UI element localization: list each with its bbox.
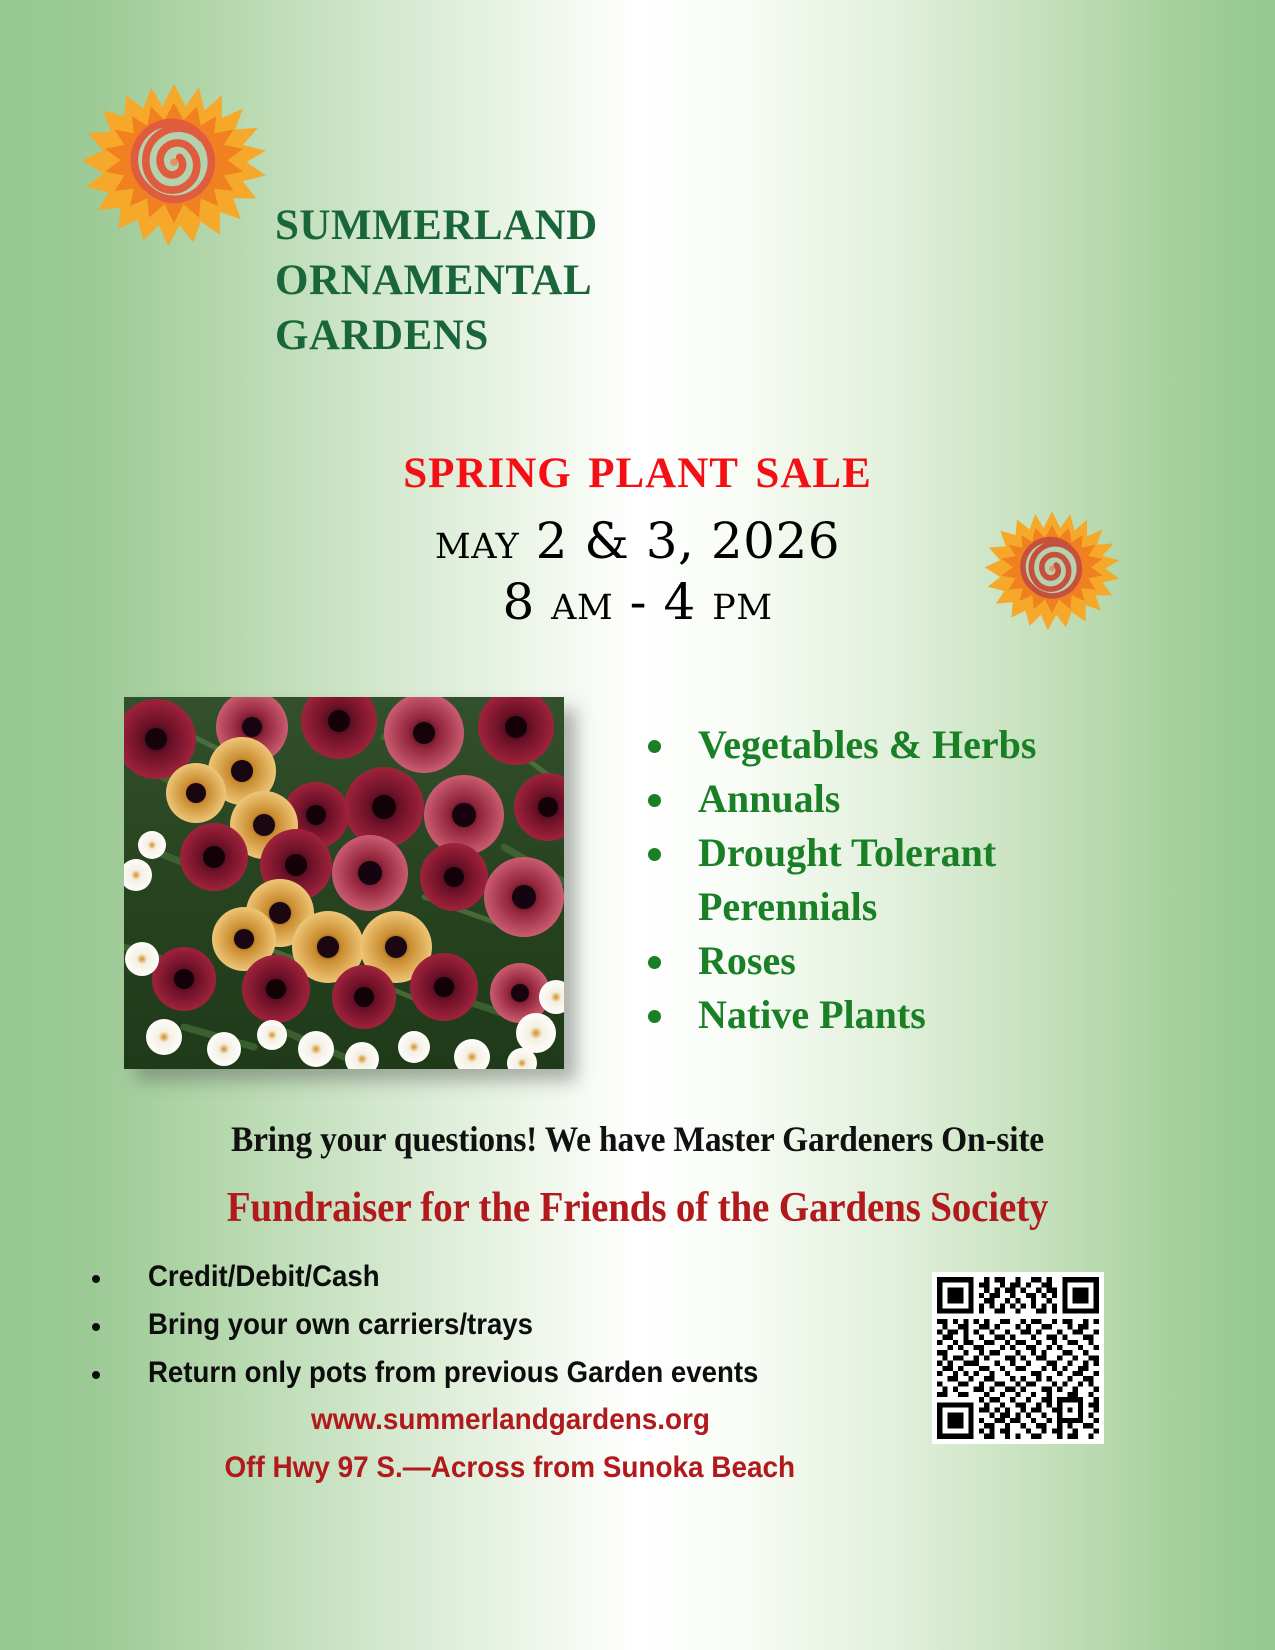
headline-block: Spring Plant Sale May 2 & 3, 2026 8 am -… [0,432,1275,632]
list-item: Roses [636,934,1156,988]
category-label: Annuals [698,776,840,821]
org-title-line-3: Gardens [275,302,598,357]
organization-title: Summerland Ornamental Gardens [275,192,598,357]
address-line: Off Hwy 97 S.—Across from Sunoka Beach [80,1444,940,1492]
event-title: Spring Plant Sale [0,432,1275,502]
master-gardeners-tagline: Bring your questions! We have Master Gar… [45,1118,1231,1160]
bullet-icon [92,1275,100,1283]
bullet-icon [648,794,661,807]
bullet-icon [648,956,661,969]
category-label: Native Plants [698,992,926,1037]
list-item: Native Plants [636,988,1156,1042]
bullet-icon [648,1010,661,1023]
contact-block: www.summerlandgardens.org Off Hwy 97 S.—… [80,1396,940,1492]
plant-category-list: Vegetables & Herbs Annuals Drought Toler… [636,718,1156,1042]
sunflower-icon [78,78,270,250]
info-label: Bring your own carriers/trays [148,1301,533,1349]
website-link[interactable]: www.summerlandgardens.org [80,1396,940,1444]
list-item: Drought Tolerant Perennials [636,826,1156,934]
list-item: Annuals [636,772,1156,826]
org-title-line-1: Summerland [275,192,598,247]
list-item: Credit/Debit/Cash [78,1253,868,1301]
event-hours: 8 am - 4 pm [0,572,1275,632]
bullet-icon [648,740,661,753]
org-title-line-2: Ornamental [275,247,598,302]
category-label: Vegetables & Herbs [698,722,1036,767]
info-label: Return only pots from previous Garden ev… [148,1349,758,1397]
category-label: Roses [698,938,796,983]
list-item: Return only pots from previous Garden ev… [78,1349,868,1397]
bullet-icon [92,1323,100,1331]
category-label: Drought Tolerant Perennials [698,830,996,929]
practical-info-list: Credit/Debit/Cash Bring your own carrier… [78,1253,868,1397]
event-dates: May 2 & 3, 2026 [0,510,1275,572]
qr-code-icon[interactable] [932,1272,1104,1444]
fundraiser-tagline: Fundraiser for the Friends of the Garden… [45,1184,1231,1232]
address-text: Off Hwy 97 S.—Across from Sunoka Beach [225,1444,796,1492]
bullet-icon [648,848,661,861]
bullet-icon [92,1371,100,1379]
flower-photo [124,697,564,1069]
flyer-page: Summerland Ornamental Gardens Spring Pla… [0,0,1275,1650]
info-label: Credit/Debit/Cash [148,1253,380,1301]
list-item: Bring your own carriers/trays [78,1301,868,1349]
website-text: www.summerlandgardens.org [311,1396,710,1444]
list-item: Vegetables & Herbs [636,718,1156,772]
